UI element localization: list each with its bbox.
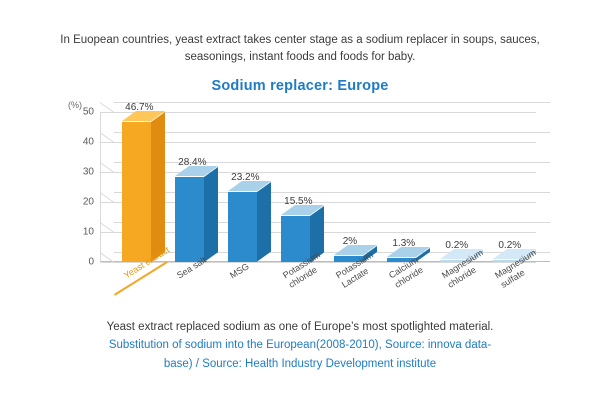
chart-title: Sodium replacer: Europe xyxy=(0,78,600,94)
gridline-back xyxy=(114,102,550,103)
bar-value-label: 23.2% xyxy=(231,172,259,192)
bar: 1.3%Calcium chloride xyxy=(387,258,416,262)
bar: 0.2%Magnesium sulfate xyxy=(493,260,522,262)
bar: 15.5%Potassium chloride xyxy=(281,216,310,263)
plot-region: 0102030405046.7%Yeast extract28.4%Sea sa… xyxy=(100,112,550,262)
gridline xyxy=(100,172,536,173)
y-axis-tick-label: 50 xyxy=(83,107,94,118)
bar: 46.7%Yeast extract xyxy=(122,122,151,262)
gridline xyxy=(100,142,536,143)
caption-bottom-line2: Substitution of sodium into the European… xyxy=(60,336,540,354)
bar-side-face xyxy=(151,112,165,262)
caption-bottom: Yeast extract replaced sodium as one of … xyxy=(60,318,540,373)
bar-value-label: 15.5% xyxy=(284,196,312,216)
bar-front-face xyxy=(175,177,204,262)
caption-bottom-line1: Yeast extract replaced sodium as one of … xyxy=(60,318,540,336)
bar: 28.4%Sea salt xyxy=(175,177,204,262)
caption-top: In Euopean countries, yeast extract take… xyxy=(60,32,540,67)
bar-front-face xyxy=(122,122,151,262)
y-axis-tick-label: 10 xyxy=(83,227,94,238)
caption-bottom-line3: base) / Source: Health Industry Developm… xyxy=(60,355,540,373)
axis-left-edge xyxy=(100,112,101,262)
gridline xyxy=(100,202,536,203)
infographic-page: In Euopean countries, yeast extract take… xyxy=(0,0,600,400)
y-axis-tick-label: 40 xyxy=(83,137,94,148)
y-axis-tick-label: 0 xyxy=(88,257,94,268)
bar: 23.2%MSG xyxy=(228,192,257,262)
y-axis-unit-label: (%) xyxy=(68,100,82,110)
bar-value-label: 2% xyxy=(343,236,357,256)
chart-area: (%) 0102030405046.7%Yeast extract28.4%Se… xyxy=(60,100,560,305)
bar-front-face xyxy=(228,192,257,262)
gridline-back xyxy=(114,132,550,133)
bar-value-label: 46.7% xyxy=(125,102,153,122)
gridline xyxy=(100,112,536,113)
bar: 2%Potassium Lactate xyxy=(334,256,363,262)
bar-value-label: 28.4% xyxy=(178,157,206,177)
y-axis-tick-label: 20 xyxy=(83,197,94,208)
y-axis-tick-label: 30 xyxy=(83,167,94,178)
bar: 0.2%Magnesium chloride xyxy=(440,260,469,262)
